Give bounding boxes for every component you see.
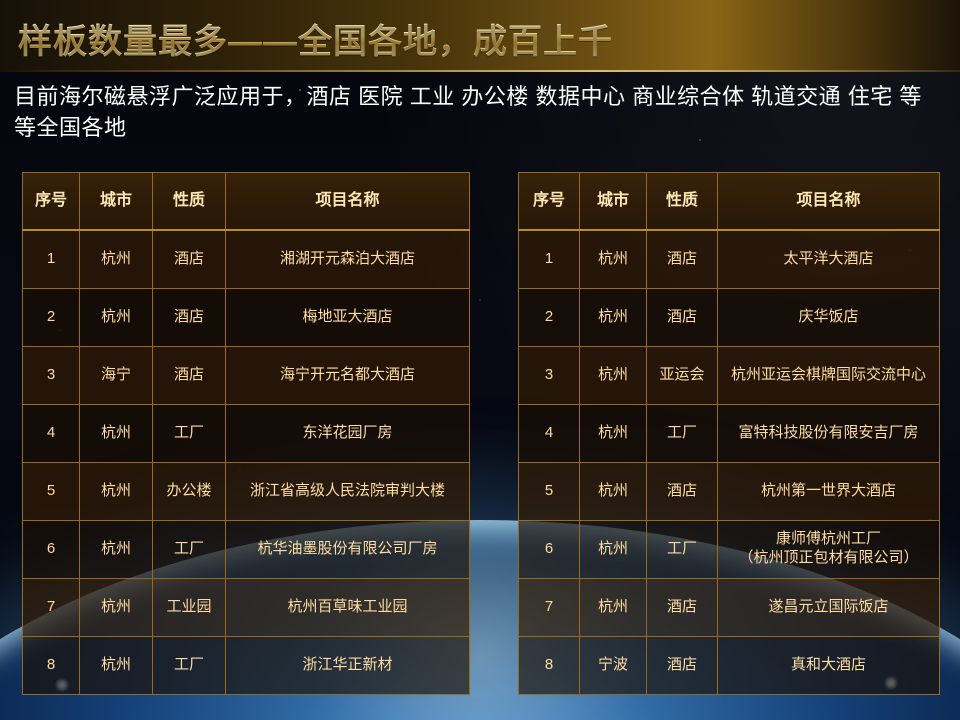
table-row: 4杭州工厂富特科技股份有限安吉厂房 [519, 404, 940, 462]
column-header-type: 性质 [647, 173, 718, 231]
cell-type: 酒店 [647, 578, 718, 636]
cell-index: 5 [23, 462, 80, 520]
slide-root: 样板数量最多——全国各地，成百上千 目前海尔磁悬浮广泛应用于，酒店 医院 工业 … [0, 0, 960, 720]
cell-index: 6 [519, 520, 580, 578]
column-header-city: 城市 [580, 173, 647, 231]
cell-project-name: 梅地亚大酒店 [226, 288, 470, 346]
table-header-row: 序号城市性质项目名称 [519, 173, 940, 231]
cell-project-name: 杭州亚运会棋牌国际交流中心 [718, 346, 940, 404]
cell-type: 工厂 [153, 404, 226, 462]
table-row: 4杭州工厂东洋花园厂房 [23, 404, 470, 462]
cell-project-name: 真和大酒店 [718, 636, 940, 694]
cell-index: 2 [23, 288, 80, 346]
column-header-index: 序号 [23, 173, 80, 231]
cell-type: 亚运会 [647, 346, 718, 404]
cell-city: 宁波 [580, 636, 647, 694]
cell-city: 杭州 [80, 462, 153, 520]
cell-city: 杭州 [80, 578, 153, 636]
cell-index: 4 [519, 404, 580, 462]
cell-project-name: 浙江省高级人民法院审判大楼 [226, 462, 470, 520]
table-row: 7杭州酒店遂昌元立国际饭店 [519, 578, 940, 636]
cell-type: 酒店 [647, 636, 718, 694]
projects-table-right: 序号城市性质项目名称 1杭州酒店太平洋大酒店2杭州酒店庆华饭店3杭州亚运会杭州亚… [518, 172, 940, 695]
cell-type: 工厂 [647, 404, 718, 462]
cell-project-name: 浙江华正新材 [226, 636, 470, 694]
cell-index: 8 [519, 636, 580, 694]
table-row: 6杭州工厂康师傅杭州工厂（杭州顶正包材有限公司） [519, 520, 940, 578]
cell-type: 办公楼 [153, 462, 226, 520]
cell-type: 工厂 [153, 520, 226, 578]
cell-city: 杭州 [580, 404, 647, 462]
column-header-project-name: 项目名称 [226, 173, 470, 231]
table-header-row: 序号城市性质项目名称 [23, 173, 470, 231]
cell-city: 杭州 [580, 578, 647, 636]
cell-project-name: 杭州第一世界大酒店 [718, 462, 940, 520]
table-row: 6杭州工厂杭华油墨股份有限公司厂房 [23, 520, 470, 578]
page-title: 样板数量最多——全国各地，成百上千 [18, 14, 613, 63]
cell-index: 3 [23, 346, 80, 404]
table-row: 2杭州酒店庆华饭店 [519, 288, 940, 346]
cell-type: 酒店 [647, 230, 718, 288]
cell-city: 杭州 [80, 636, 153, 694]
cell-index: 4 [23, 404, 80, 462]
table-row: 3海宁酒店海宁开元名都大酒店 [23, 346, 470, 404]
cell-index: 7 [23, 578, 80, 636]
column-header-project-name: 项目名称 [718, 173, 940, 231]
cell-city: 杭州 [80, 288, 153, 346]
subtitle-text: 目前海尔磁悬浮广泛应用于，酒店 医院 工业 办公楼 数据中心 商业综合体 轨道交… [14, 82, 944, 144]
table-row: 2杭州酒店梅地亚大酒店 [23, 288, 470, 346]
cell-type: 工业园 [153, 578, 226, 636]
column-header-index: 序号 [519, 173, 580, 231]
cell-city: 杭州 [80, 404, 153, 462]
cell-type: 酒店 [647, 288, 718, 346]
cell-project-name: 富特科技股份有限安吉厂房 [718, 404, 940, 462]
cell-type: 工厂 [647, 520, 718, 578]
table-row: 7杭州工业园杭州百草味工业园 [23, 578, 470, 636]
cell-city: 杭州 [80, 520, 153, 578]
cell-project-name: 太平洋大酒店 [718, 230, 940, 288]
title-band: 样板数量最多——全国各地，成百上千 [0, 0, 960, 72]
column-header-type: 性质 [153, 173, 226, 231]
cell-project-name: 康师傅杭州工厂（杭州顶正包材有限公司） [718, 520, 940, 578]
projects-table-left: 序号城市性质项目名称 1杭州酒店湘湖开元森泊大酒店2杭州酒店梅地亚大酒店3海宁酒… [22, 172, 470, 695]
cell-type: 工厂 [153, 636, 226, 694]
cell-project-name: 海宁开元名都大酒店 [226, 346, 470, 404]
table-row: 1杭州酒店太平洋大酒店 [519, 230, 940, 288]
cell-type: 酒店 [153, 346, 226, 404]
cell-index: 8 [23, 636, 80, 694]
cell-type: 酒店 [153, 230, 226, 288]
table-row: 1杭州酒店湘湖开元森泊大酒店 [23, 230, 470, 288]
table-row: 3杭州亚运会杭州亚运会棋牌国际交流中心 [519, 346, 940, 404]
table-row: 8杭州工厂浙江华正新材 [23, 636, 470, 694]
cell-project-name: 庆华饭店 [718, 288, 940, 346]
cell-index: 2 [519, 288, 580, 346]
cell-city: 杭州 [580, 230, 647, 288]
cell-index: 3 [519, 346, 580, 404]
table-row: 5杭州酒店杭州第一世界大酒店 [519, 462, 940, 520]
cell-city: 杭州 [580, 520, 647, 578]
cell-type: 酒店 [153, 288, 226, 346]
cell-type: 酒店 [647, 462, 718, 520]
cell-project-name: 遂昌元立国际饭店 [718, 578, 940, 636]
cell-project-name: 杭州百草味工业园 [226, 578, 470, 636]
column-header-city: 城市 [80, 173, 153, 231]
cell-index: 1 [519, 230, 580, 288]
table-row: 5杭州办公楼浙江省高级人民法院审判大楼 [23, 462, 470, 520]
cell-project-name: 杭华油墨股份有限公司厂房 [226, 520, 470, 578]
cell-project-name: 湘湖开元森泊大酒店 [226, 230, 470, 288]
cell-city: 杭州 [580, 346, 647, 404]
cell-index: 7 [519, 578, 580, 636]
cell-project-name: 东洋花园厂房 [226, 404, 470, 462]
cell-index: 1 [23, 230, 80, 288]
cell-index: 5 [519, 462, 580, 520]
cell-city: 杭州 [580, 462, 647, 520]
table-row: 8宁波酒店真和大酒店 [519, 636, 940, 694]
cell-city: 海宁 [80, 346, 153, 404]
cell-index: 6 [23, 520, 80, 578]
cell-city: 杭州 [580, 288, 647, 346]
cell-city: 杭州 [80, 230, 153, 288]
